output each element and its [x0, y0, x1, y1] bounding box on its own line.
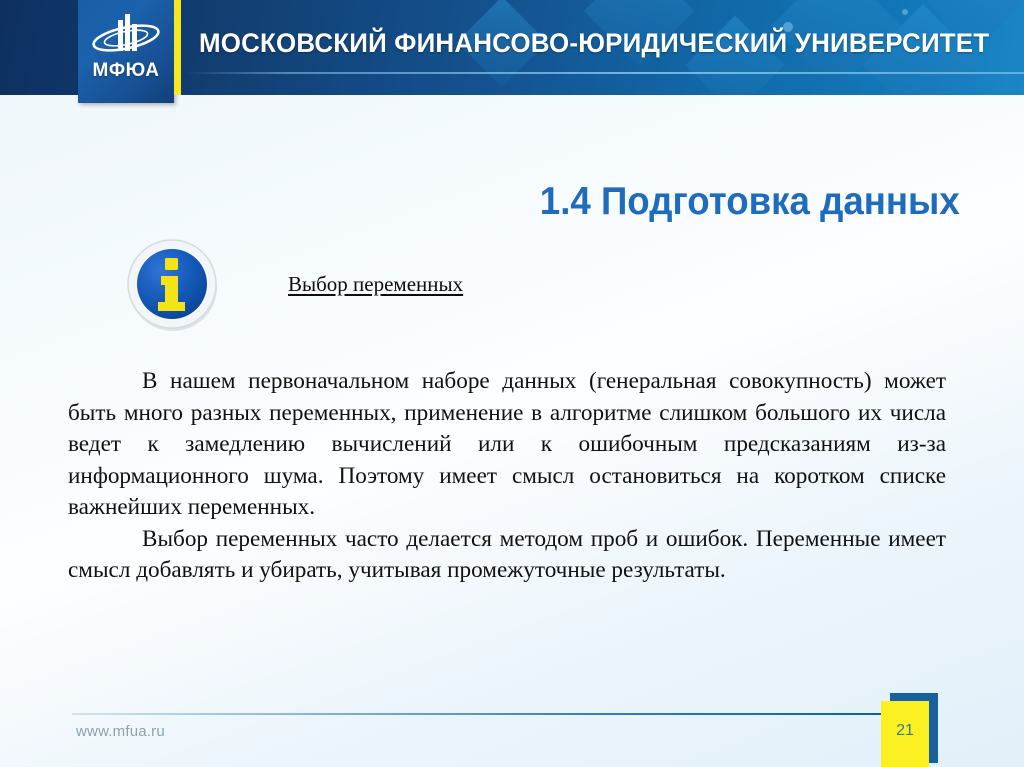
- information-icon: [124, 236, 222, 334]
- logo-accent-bar: [174, 0, 181, 95]
- page-number: 21: [881, 722, 929, 740]
- footer-website-url: www.mfua.ru: [76, 723, 165, 740]
- university-name: МОСКОВСКИЙ ФИНАНСОВО-ЮРИДИЧЕСКИЙ УНИВЕРС…: [199, 28, 989, 59]
- university-logo: МФЮА: [78, 0, 174, 103]
- header-divider-line: [186, 72, 1024, 74]
- footer-divider: [72, 713, 890, 715]
- mfua-emblem-icon: [88, 14, 164, 60]
- paragraph-2: Выбор переменных часто делается методом …: [68, 524, 946, 587]
- page-title: 1.4 Подготовка данных: [540, 180, 960, 224]
- section-subtitle: Выбор переменных: [288, 272, 463, 297]
- slide-body-text: В нашем первоначальном наборе данных (ге…: [68, 366, 946, 587]
- logo-abbreviation: МФЮА: [78, 60, 174, 82]
- presentation-slide: МОСКОВСКИЙ ФИНАНСОВО-ЮРИДИЧЕСКИЙ УНИВЕРС…: [0, 0, 1024, 767]
- paragraph-1: В нашем первоначальном наборе данных (ге…: [68, 366, 946, 524]
